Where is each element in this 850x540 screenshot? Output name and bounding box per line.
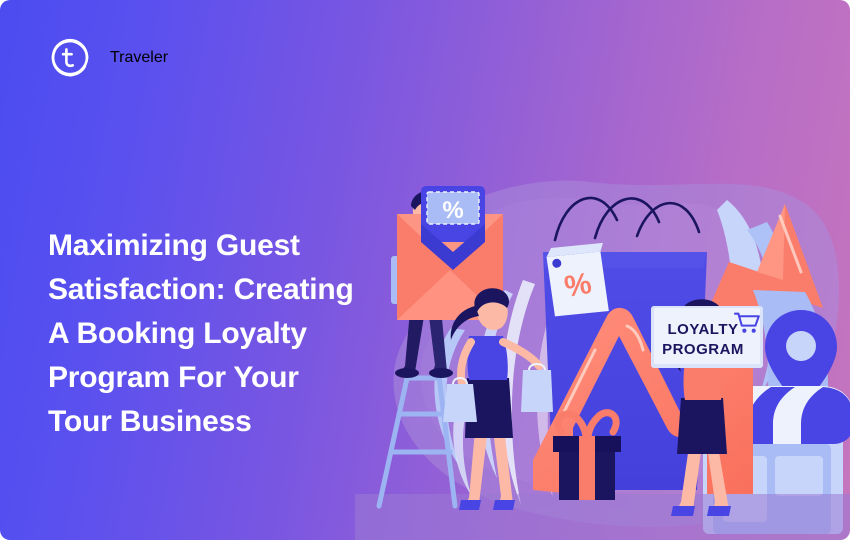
price-tag-percent: % <box>562 267 594 304</box>
sign-line-2: PROGRAM <box>662 341 744 358</box>
ground-plane <box>355 494 850 540</box>
circle-t-logo-icon <box>48 36 92 80</box>
loyalty-program-sign: LOYALTY PROGRAM <box>651 306 763 368</box>
loyalty-program-illustration: % <box>355 160 850 540</box>
sign-line-1: LOYALTY <box>667 321 738 338</box>
brand-name: Traveler <box>110 49 168 67</box>
page-title: Maximizing Guest Satisfaction: Creating … <box>48 224 368 444</box>
brand-logo[interactable]: Traveler <box>48 36 168 80</box>
envelope-percent-label: % <box>442 197 463 224</box>
promo-banner-card: Traveler Maximizing Guest Satisfaction: … <box>0 0 850 540</box>
